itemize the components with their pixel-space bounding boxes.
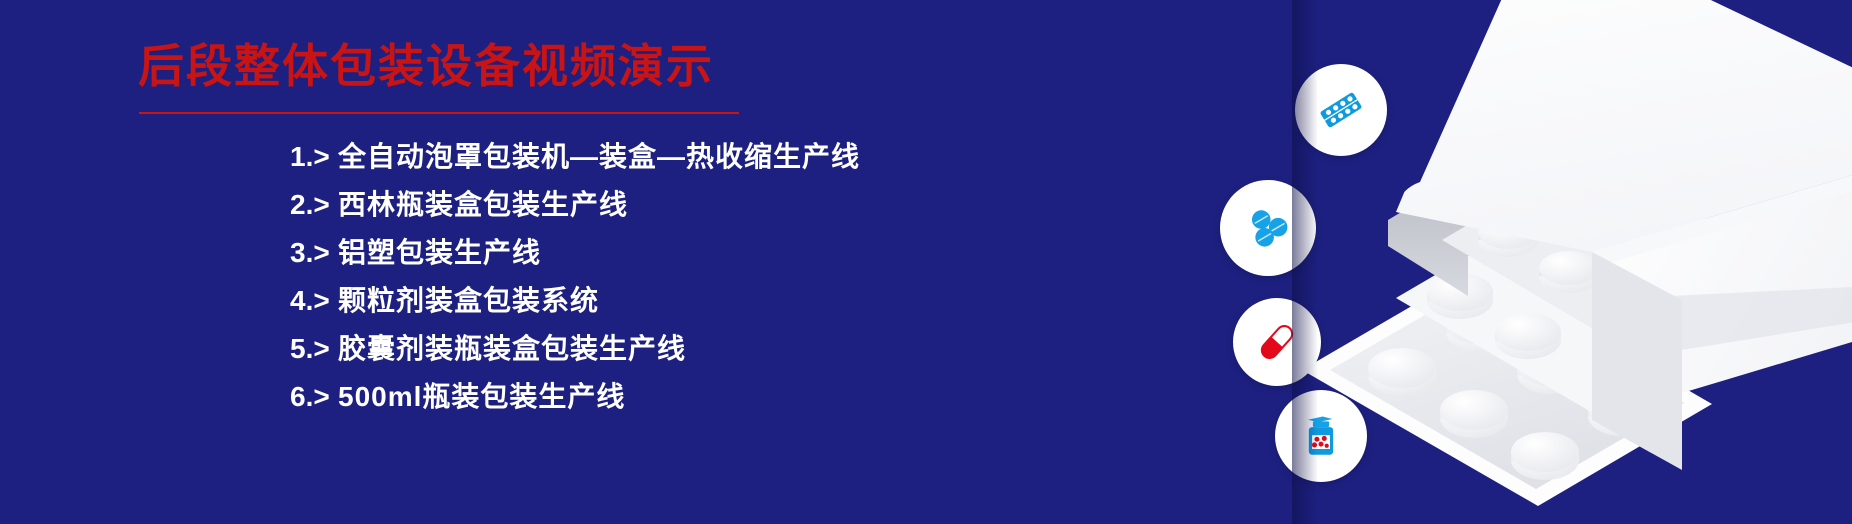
list-item-label: 西林瓶装盒包装生产线 bbox=[338, 191, 628, 219]
list-item[interactable]: 1.> 全自动泡罩包装机—装盒—热收缩生产线 bbox=[290, 143, 1050, 191]
list-item-number: 3.> bbox=[290, 239, 338, 267]
list-item-label: 全自动泡罩包装机—装盒—热收缩生产线 bbox=[338, 143, 860, 171]
list-item[interactable]: 5.> 胶囊剂装瓶装盒包装生产线 bbox=[290, 335, 1050, 383]
list-item-label: 500ml瓶装包装生产线 bbox=[338, 383, 625, 411]
page-title: 后段整体包装设备视频演示 bbox=[138, 40, 714, 93]
list-item-number: 5.> bbox=[290, 335, 338, 363]
list-item-label: 颗粒剂装盒包装系统 bbox=[338, 287, 599, 315]
list-item[interactable]: 6.> 500ml瓶装包装生产线 bbox=[290, 383, 1050, 431]
list-item-number: 2.> bbox=[290, 191, 338, 219]
list-item[interactable]: 4.> 颗粒剂装盒包装系统 bbox=[290, 287, 1050, 335]
video-list: 1.> 全自动泡罩包装机—装盒—热收缩生产线 2.> 西林瓶装盒包装生产线 3.… bbox=[290, 143, 1050, 431]
packaging-video-banner: 后段整体包装设备视频演示 1.> 全自动泡罩包装机—装盒—热收缩生产线 2.> … bbox=[0, 0, 1852, 524]
list-item[interactable]: 3.> 铝塑包装生产线 bbox=[290, 239, 1050, 287]
title-underline bbox=[139, 112, 739, 114]
list-item[interactable]: 2.> 西林瓶装盒包装生产线 bbox=[290, 191, 1050, 239]
list-item-label: 铝塑包装生产线 bbox=[338, 239, 541, 267]
list-item-number: 6.> bbox=[290, 383, 338, 411]
list-item-number: 4.> bbox=[290, 287, 338, 315]
carton-with-blister-packs-illustration bbox=[1292, 0, 1852, 524]
text-panel: 后段整体包装设备视频演示 1.> 全自动泡罩包装机—装盒—热收缩生产线 2.> … bbox=[0, 0, 1100, 524]
list-item-label: 胶囊剂装瓶装盒包装生产线 bbox=[338, 335, 686, 363]
list-item-number: 1.> bbox=[290, 143, 338, 171]
